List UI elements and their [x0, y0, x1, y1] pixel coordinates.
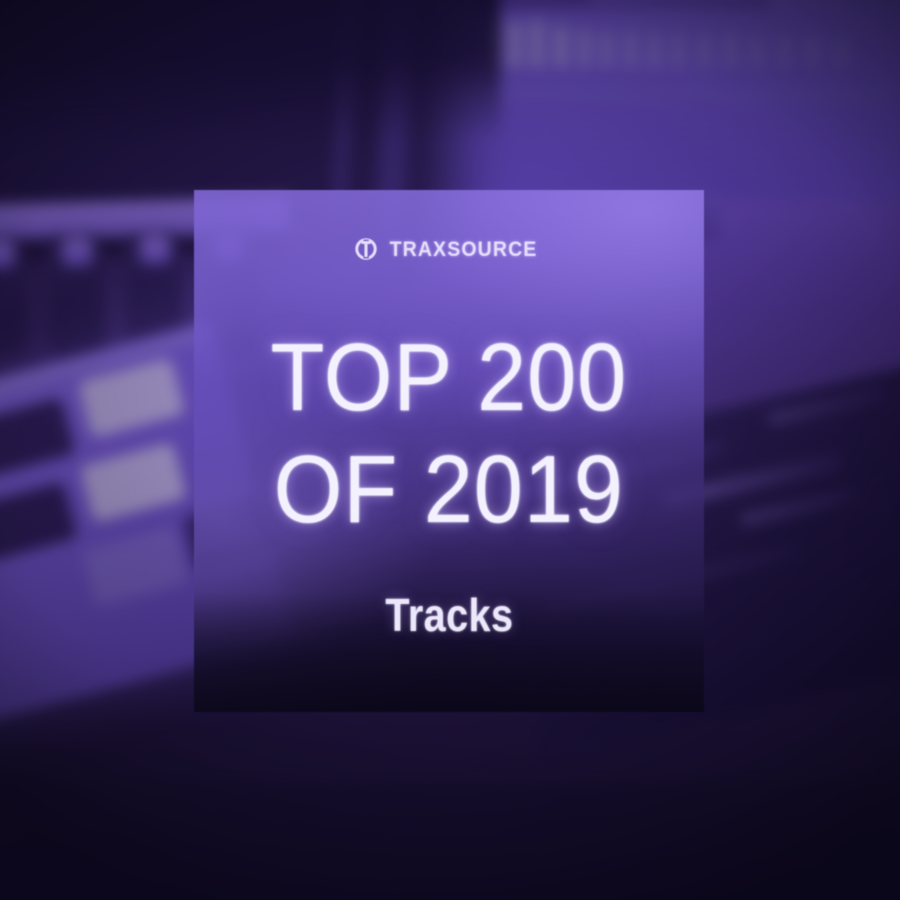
- background-floor-shade: [0, 780, 900, 900]
- artwork-canvas: TRAXSOURCE TOP 200 OF 2019 Tracks: [0, 0, 900, 900]
- cover-art-card: TRAXSOURCE TOP 200 OF 2019 Tracks: [194, 190, 704, 712]
- page-title: TOP 200 OF 2019: [271, 322, 628, 546]
- traxsource-wordmark: TRAXSOURCE: [390, 239, 538, 260]
- background-top-shade: [0, 0, 500, 140]
- traxsource-logo: TRAXSOURCE: [355, 238, 543, 260]
- headline-line-1: TOP 200: [271, 322, 628, 434]
- traxsource-circle-t-logo-icon: [355, 238, 377, 260]
- knob-cap: [0, 239, 14, 268]
- knob-cap: [140, 235, 171, 264]
- headline-line-2: OF 2019: [271, 434, 628, 546]
- subtitle: Tracks: [385, 592, 513, 638]
- knob-cap: [62, 237, 93, 266]
